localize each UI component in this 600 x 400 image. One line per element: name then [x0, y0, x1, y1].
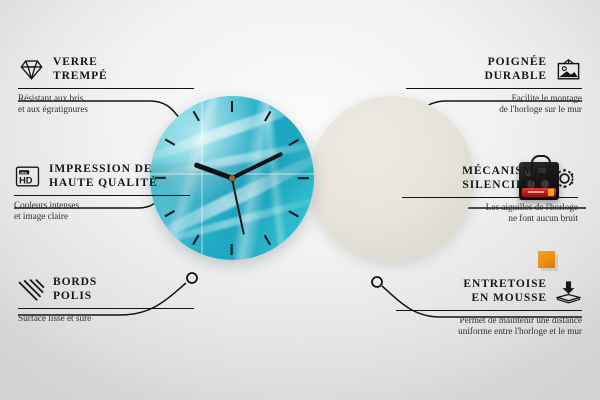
divider — [18, 308, 194, 309]
foam-spacer — [538, 251, 555, 268]
callout-verre-trempe: VERRE TREMPÉ Résistant aux bris et aux é… — [18, 56, 194, 116]
picture-hanger-icon — [555, 57, 582, 82]
diamond-icon — [18, 57, 45, 82]
callout-subtitle: Couleurs intenses et image claire — [14, 200, 190, 223]
callout-title: IMPRESSION DE HAUTE QUALITÉ — [49, 163, 158, 190]
callout-subtitle: Surface lisse et sûre — [18, 313, 194, 324]
callout-title: MÉCANISME SILENCIEUX — [462, 165, 543, 192]
callout-subtitle: Permet de maintenir une distance uniform… — [396, 315, 582, 338]
callout-title: VERRE TREMPÉ — [53, 56, 108, 83]
hand-cap — [229, 175, 235, 181]
gear-icon — [551, 166, 578, 191]
divider — [406, 88, 582, 89]
divider — [14, 195, 190, 196]
divider — [396, 310, 582, 311]
divider — [402, 197, 578, 198]
callout-bords-polis: BORDS POLIS Surface lisse et sûre — [18, 276, 194, 324]
callout-impression-haute-qualite: ultra HD IMPRESSION DE HAUTE QUALITÉ Cou… — [14, 163, 190, 223]
callout-title: ENTRETOISE EN MOUSSE — [463, 278, 547, 305]
callout-poignee-durable: POIGNÉE DURABLE Facilite le montage de l… — [406, 56, 582, 116]
svg-text:ultra: ultra — [20, 171, 27, 175]
callout-title: BORDS POLIS — [53, 276, 97, 303]
divider — [18, 88, 194, 89]
ultra-hd-icon: ultra HD — [14, 164, 41, 189]
svg-text:HD: HD — [19, 175, 33, 185]
callout-mecanisme-silencieux: MÉCANISME SILENCIEUX Les aiguilles de l'… — [402, 165, 578, 225]
foam-spacer-icon — [555, 279, 582, 304]
infographic-canvas: VERRE TREMPÉ Résistant aux bris et aux é… — [0, 0, 600, 400]
callout-subtitle: Résistant aux bris et aux égratignures — [18, 93, 194, 116]
callout-title: POIGNÉE DURABLE — [484, 56, 547, 83]
callout-subtitle: Les aiguilles de l'horloge ne font aucun… — [402, 202, 578, 225]
callout-subtitle: Facilite le montage de l'horloge sur le … — [406, 93, 582, 116]
callout-entretoise-en-mousse: ENTRETOISE EN MOUSSE Permet de maintenir… — [396, 278, 582, 338]
polished-edges-icon — [18, 277, 45, 302]
